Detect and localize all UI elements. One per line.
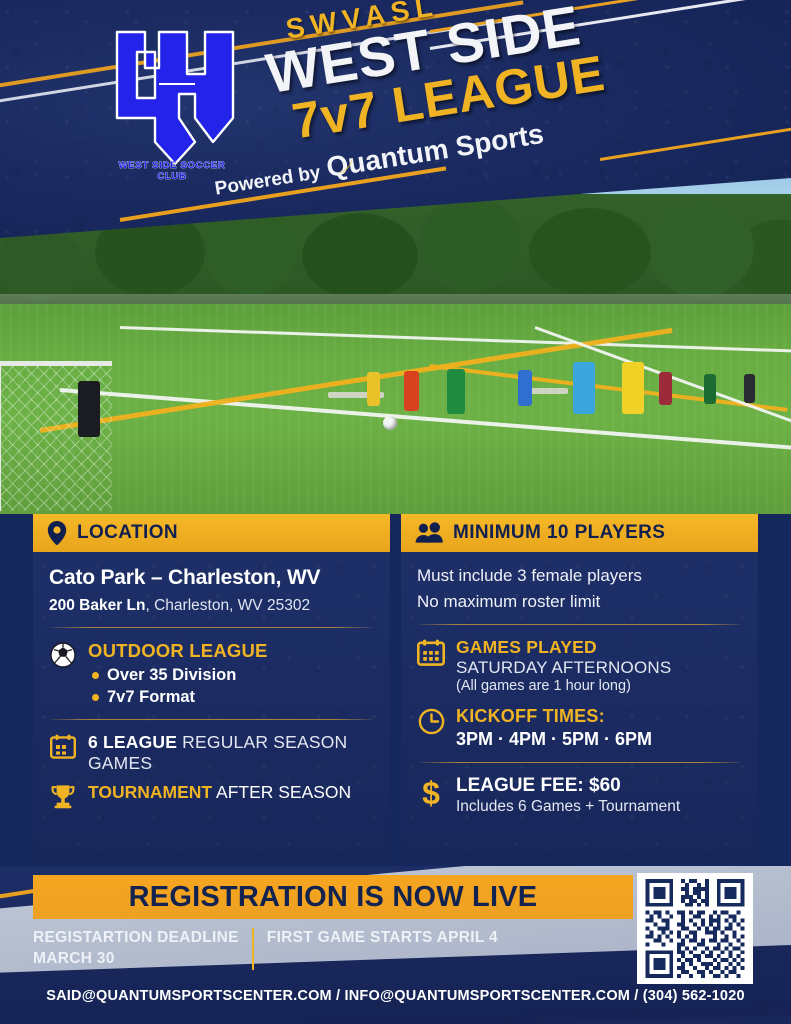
roster-requirement-2: No maximum roster limit — [417, 592, 742, 612]
svg-text:$: $ — [422, 777, 440, 809]
dollar-sign-icon: $ — [418, 777, 444, 809]
calendar-icon — [50, 734, 76, 759]
outdoor-league-row: OUTDOOR LEAGUE Over 35 Division 7v7 Form… — [49, 640, 374, 707]
trophy-icon — [50, 784, 76, 809]
games-played-label: GAMES PLAYED — [456, 637, 742, 658]
kickoff-times-text: KICKOFF TIMES: 3PM · 4PM · 5PM · 6PM — [456, 706, 742, 750]
players-panel: MINIMUM 10 PLAYERS Must include 3 female… — [401, 514, 758, 862]
venue-address: 200 Baker Ln, Charleston, WV 25302 — [49, 597, 374, 615]
player — [447, 369, 465, 414]
registration-section: REGISTRATION IS NOW LIVE REGISTARTION DE… — [0, 866, 791, 1024]
divider — [419, 624, 740, 625]
footer-contact-line: SAID@QUANTUMSPORTSCENTER.COM / INFO@QUAN… — [0, 988, 791, 1004]
player — [518, 370, 532, 406]
kickoff-times-row: KICKOFF TIMES: 3PM · 4PM · 5PM · 6PM — [417, 706, 742, 750]
calendar-icon-wrap — [417, 637, 445, 666]
venue-name: Cato Park – Charleston, WV — [49, 566, 374, 590]
games-played-note: (All games are 1 hour long) — [456, 678, 742, 694]
contact-text: SAID@QUANTUMSPORTSCENTER.COM / INFO@QUAN… — [46, 988, 744, 1004]
player-goalkeeper — [78, 381, 100, 437]
kickoff-times-value: 3PM · 4PM · 5PM · 6PM — [456, 729, 742, 750]
games-played-row: GAMES PLAYED SATURDAY AFTERNOONS (All ga… — [417, 637, 742, 694]
player — [367, 372, 380, 406]
calendar-icon-wrap — [49, 732, 77, 759]
soccer-ball-icon-wrap — [49, 640, 77, 668]
player — [622, 362, 644, 414]
soccer-ball — [383, 416, 397, 430]
bullet-dot-icon — [92, 694, 99, 701]
tournament-timing: AFTER SEASON — [212, 782, 351, 802]
list-item: 7v7 Format — [88, 688, 374, 707]
bullet-text: 7v7 Format — [107, 688, 195, 707]
player — [704, 374, 716, 404]
roster-requirement-1: Must include 3 female players — [417, 566, 742, 586]
kickoff-label: KICKOFF TIMES: — [456, 706, 742, 727]
accent-streak — [600, 122, 791, 161]
tournament-row: TOURNAMENT AFTER SEASON — [49, 782, 374, 809]
quantum-swoosh-icon — [333, 157, 357, 176]
flyer-poster: WEST SIDE SOCCER CLUB SWVASL WEST SIDE 7… — [0, 0, 791, 1024]
clock-icon — [418, 708, 445, 735]
registration-banner: REGISTRATION IS NOW LIVE — [33, 875, 633, 919]
location-panel-header: LOCATION — [33, 514, 390, 552]
address-street: 200 Baker Ln — [49, 597, 146, 614]
vertical-divider — [252, 928, 254, 970]
tournament-label: TOURNAMENT — [88, 782, 212, 802]
poster-title-block: SWVASL WEST SIDE 7v7 LEAGUE — [258, 0, 609, 150]
registration-banner-text: REGISTRATION IS NOW LIVE — [129, 881, 538, 914]
season-games-row: 6 LEAGUE REGULAR SEASON GAMES — [49, 732, 374, 773]
bullet-dot-icon — [92, 672, 99, 679]
info-panels: LOCATION Cato Park – Charleston, WV 200 … — [0, 514, 791, 866]
first-game-text: FIRST GAME STARTS APRIL 4 — [267, 928, 498, 949]
west-side-soccer-club-logo: WEST SIDE SOCCER CLUB — [97, 22, 247, 182]
location-panel-body: Cato Park – Charleston, WV 200 Baker Ln,… — [33, 552, 390, 862]
league-fee-text: LEAGUE FEE: $60 Includes 6 Games + Tourn… — [456, 775, 742, 816]
player — [404, 371, 419, 411]
deadline-column: REGISTARTION DEADLINE MARCH 30 — [33, 928, 239, 970]
divider — [419, 762, 740, 763]
deadline-date: MARCH 30 — [33, 949, 239, 970]
ws-monogram-icon — [97, 22, 247, 172]
games-played-when: SATURDAY AFTERNOONS — [456, 658, 742, 678]
league-fee-label: LEAGUE FEE: $60 — [456, 775, 742, 797]
calendar-icon — [417, 639, 445, 666]
games-played-text: GAMES PLAYED SATURDAY AFTERNOONS (All ga… — [456, 637, 742, 694]
season-games-text: 6 LEAGUE REGULAR SEASON GAMES — [88, 732, 374, 773]
bullet-text: Over 35 Division — [107, 666, 236, 685]
season-games-count: 6 LEAGUE — [88, 732, 177, 752]
outdoor-league-text: OUTDOOR LEAGUE Over 35 Division 7v7 Form… — [88, 640, 374, 707]
first-game-column: FIRST GAME STARTS APRIL 4 — [267, 928, 498, 949]
player — [744, 374, 755, 403]
two-people-icon — [415, 522, 443, 544]
players-panel-header: MINIMUM 10 PLAYERS — [401, 514, 758, 552]
list-item: Over 35 Division — [88, 666, 374, 685]
outdoor-league-label: OUTDOOR LEAGUE — [88, 640, 374, 662]
player — [659, 372, 672, 405]
league-fee-row: $ LEAGUE FEE: $60 Includes 6 Games + Tou… — [417, 775, 742, 816]
trophy-icon-wrap — [49, 782, 77, 809]
registration-qr-code[interactable] — [637, 873, 753, 984]
player — [573, 362, 595, 414]
tournament-text: TOURNAMENT AFTER SEASON — [88, 782, 374, 803]
league-fee-note: Includes 6 Games + Tournament — [456, 798, 742, 816]
deadline-block: REGISTARTION DEADLINE MARCH 30 FIRST GAM… — [33, 928, 498, 970]
clock-icon-wrap — [417, 706, 445, 735]
location-panel: LOCATION Cato Park – Charleston, WV 200 … — [33, 514, 390, 862]
soccer-ball-icon — [50, 642, 76, 668]
deadline-label: REGISTARTION DEADLINE — [33, 928, 239, 949]
map-pin-icon — [47, 521, 67, 545]
divider — [51, 627, 372, 628]
players-panel-body: Must include 3 female players No maximum… — [401, 552, 758, 862]
address-city-state-zip: , Charleston, WV 25302 — [146, 597, 311, 614]
qr-code-image — [643, 879, 747, 978]
dollar-icon-wrap: $ — [417, 775, 445, 809]
location-panel-title: LOCATION — [77, 522, 178, 544]
league-bullets: Over 35 Division 7v7 Format — [88, 666, 374, 707]
players-panel-title: MINIMUM 10 PLAYERS — [453, 522, 665, 544]
divider — [51, 719, 372, 720]
